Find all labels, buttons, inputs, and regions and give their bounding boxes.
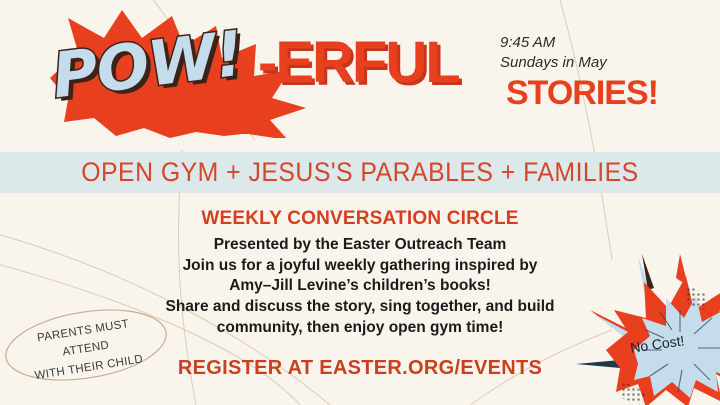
event-time: 9:45 AM [500, 33, 607, 53]
parents-attend-badge: PARENTS MUST ATTEND WITH THEIR CHILD [2, 306, 170, 384]
register-cta[interactable]: REGISTER AT EASTER.ORG/EVENTS [110, 357, 610, 380]
no-cost-burst-shape [576, 252, 720, 405]
body-copy: WEEKLY CONVERSATION CIRCLE Presented by … [110, 208, 610, 339]
body-line: Amy–Jill Levine’s children’s books! [110, 276, 610, 297]
event-dates: Sundays in May [500, 53, 607, 73]
time-block: 9:45 AM Sundays in May [500, 33, 607, 74]
body-line: Share and discuss the story, sing togeth… [110, 297, 610, 318]
topics-banner-text: OPEN GYM + JESUS'S PARABLES + FAMILIES [81, 157, 638, 188]
body-line: community, then enjoy open gym time! [110, 318, 610, 339]
topics-banner: OPEN GYM + JESUS'S PARABLES + FAMILIES [0, 152, 720, 193]
body-line: Join us for a joyful weekly gathering in… [110, 256, 610, 277]
stories-word: STORIES! [506, 76, 658, 110]
body-lines: Presented by the Easter Outreach Team Jo… [110, 235, 610, 339]
erful-word: -ERFUL [258, 34, 459, 92]
no-cost-burst: No Cost! [576, 252, 720, 405]
body-line: Presented by the Easter Outreach Team [110, 235, 610, 256]
body-headline: WEEKLY CONVERSATION CIRCLE [110, 208, 610, 230]
hero-section: POW! -ERFUL 9:45 AM Sundays in May STORI… [0, 0, 720, 152]
poster-canvas: POW! -ERFUL 9:45 AM Sundays in May STORI… [0, 0, 720, 405]
